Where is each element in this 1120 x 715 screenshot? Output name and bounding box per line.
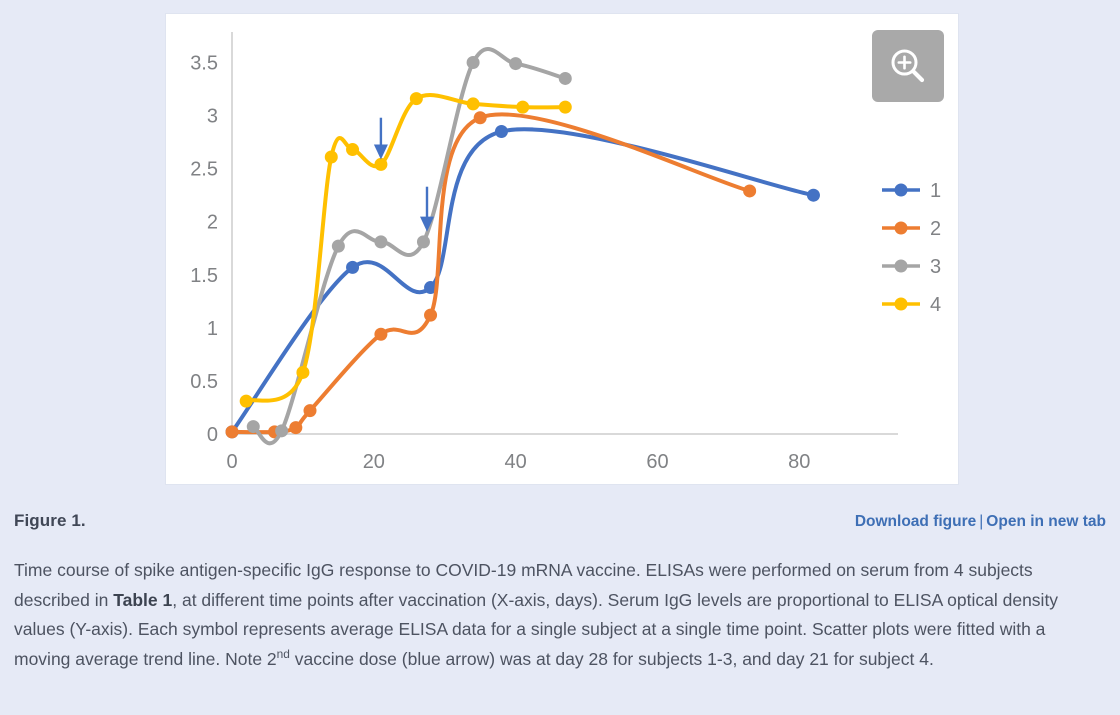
zoom-in-button[interactable]: [872, 30, 944, 102]
table-1-reference[interactable]: Table 1: [113, 590, 172, 610]
figure-caption-text: Time course of spike antigen-specific Ig…: [14, 556, 1106, 674]
data-point-series-4: [374, 158, 387, 171]
y-tick-label: 1: [207, 318, 218, 340]
figure-image-panel[interactable]: 00.511.522.533.5020406080 1234: [166, 14, 958, 484]
series-2: [226, 111, 757, 438]
x-tick-label: 40: [505, 451, 527, 473]
caption-segment-3: vaccine dose (blue arrow) was at day 28 …: [290, 649, 934, 669]
legend-marker: [895, 222, 908, 235]
figure-caption-header: Figure 1. Download figure|Open in new ta…: [14, 511, 1106, 539]
data-point-series-4: [240, 395, 253, 408]
y-tick-label: 2: [207, 212, 218, 234]
data-point-series-1: [495, 125, 508, 138]
open-in-new-tab-link[interactable]: Open in new tab: [986, 513, 1106, 530]
legend-item-2: 2: [882, 218, 941, 240]
legend-item-3: 3: [882, 256, 941, 278]
series-1: [226, 125, 820, 438]
series-4: [240, 92, 572, 407]
chart-series-group: [226, 49, 820, 443]
legend-item-1: 1: [882, 180, 941, 202]
y-tick-label: 3: [207, 106, 218, 128]
data-point-series-1: [346, 261, 359, 274]
legend-label: 1: [930, 180, 941, 202]
data-point-series-2: [289, 421, 302, 434]
x-tick-label: 60: [646, 451, 668, 473]
legend-label: 3: [930, 256, 941, 278]
x-tick-label: 80: [788, 451, 810, 473]
data-point-series-4: [296, 366, 309, 379]
data-point-series-3: [467, 56, 480, 69]
chart-legend: 1234: [882, 180, 941, 316]
data-point-series-3: [275, 424, 288, 437]
data-point-series-4: [467, 97, 480, 110]
y-tick-label: 0.5: [190, 371, 218, 393]
data-point-series-4: [559, 101, 572, 114]
magnifier-plus-icon: [887, 45, 929, 87]
data-point-series-2: [743, 184, 756, 197]
legend-marker: [895, 260, 908, 273]
legend-label: 2: [930, 218, 941, 240]
y-tick-label: 1.5: [190, 265, 218, 287]
figure-number-label: Figure 1.: [14, 511, 86, 531]
series-line-4: [246, 95, 565, 401]
second-dose-arrow-subject-4: [374, 118, 388, 160]
data-point-series-4: [325, 150, 338, 163]
x-tick-label: 20: [363, 451, 385, 473]
download-figure-link[interactable]: Download figure: [855, 513, 976, 530]
data-point-series-3: [332, 240, 345, 253]
data-point-series-2: [474, 111, 487, 124]
data-point-series-3: [417, 235, 430, 248]
figure-viewer-page: 00.511.522.533.5020406080 1234 Figure 1.…: [0, 0, 1120, 715]
data-point-series-1: [807, 189, 820, 202]
y-tick-label: 3.5: [190, 53, 218, 75]
data-point-series-2: [424, 309, 437, 322]
data-point-series-4: [346, 143, 359, 156]
data-point-series-2: [304, 404, 317, 417]
data-point-series-2: [226, 425, 239, 438]
igg-time-course-chart: 00.511.522.533.5020406080 1234: [166, 14, 958, 484]
legend-marker: [895, 184, 908, 197]
caption-superscript-nd: nd: [277, 647, 290, 661]
data-point-series-4: [516, 101, 529, 114]
legend-marker: [895, 298, 908, 311]
figure-actions: Download figure|Open in new tab: [855, 513, 1106, 531]
chart-axes: [232, 32, 898, 434]
link-separator: |: [976, 513, 986, 530]
data-point-series-3: [374, 235, 387, 248]
legend-label: 4: [930, 294, 941, 316]
chart-annotations-group: [374, 118, 434, 232]
x-tick-label: 0: [226, 451, 237, 473]
data-point-series-4: [410, 92, 423, 105]
data-point-series-2: [374, 328, 387, 341]
data-point-series-3: [509, 57, 522, 70]
data-point-series-3: [247, 420, 260, 433]
legend-item-4: 4: [882, 294, 941, 316]
y-tick-label: 2.5: [190, 159, 218, 181]
series-line-2: [232, 114, 750, 432]
data-point-series-3: [559, 72, 572, 85]
y-tick-label: 0: [207, 424, 218, 446]
